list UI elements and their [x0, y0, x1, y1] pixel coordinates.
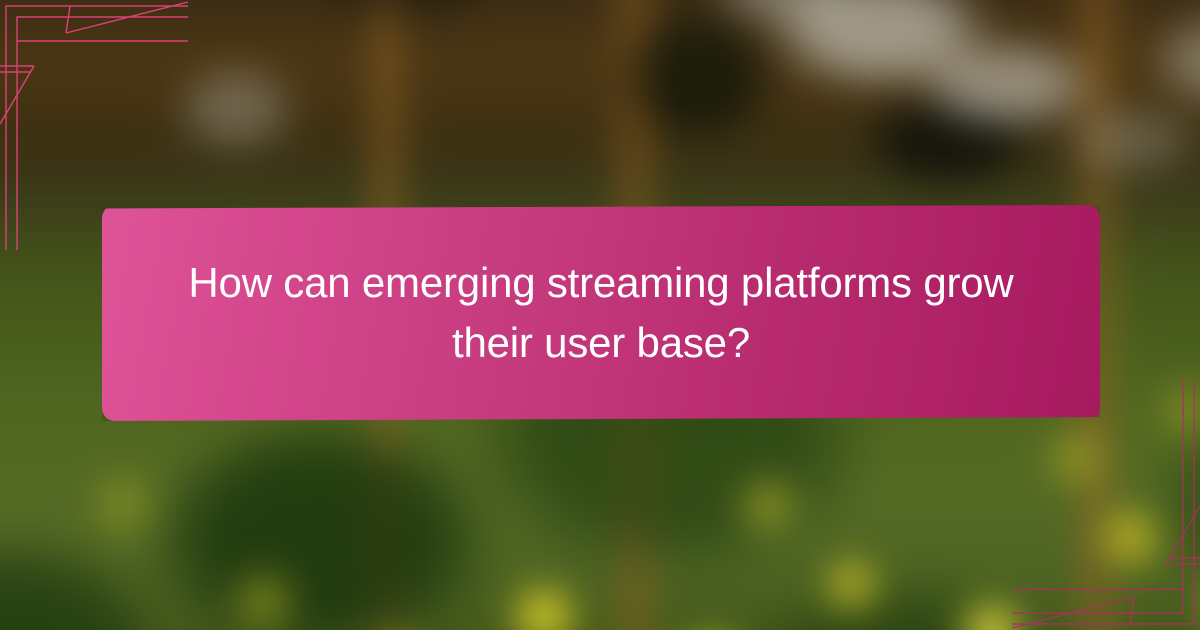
page-title: How can emerging streaming platforms gro… — [158, 253, 1044, 372]
headline-card-inner: How can emerging streaming platforms gro… — [102, 253, 1100, 372]
share-card-canvas: How can emerging streaming platforms gro… — [0, 0, 1200, 630]
headline-card: How can emerging streaming platforms gro… — [102, 205, 1100, 421]
